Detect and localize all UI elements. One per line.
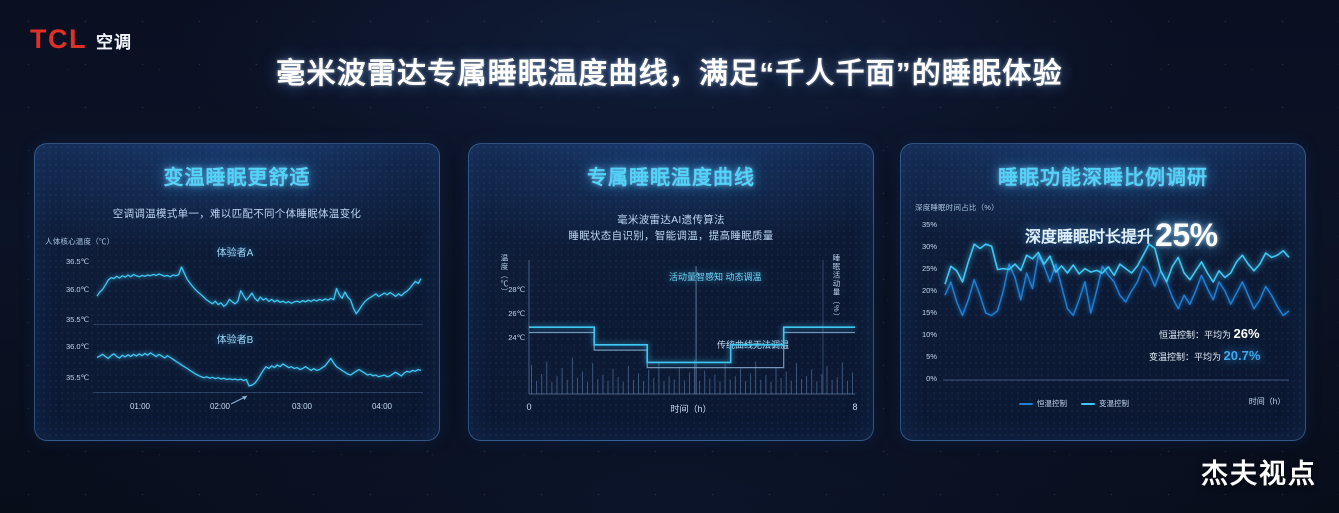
legend-swatch-constant [1019, 403, 1033, 405]
card3-stat-variable-value: 20.7% [1224, 348, 1261, 363]
card1-xtick-1: 02:00 [210, 402, 230, 411]
card2-subtitle-line-2: 睡眠状态自识别，智能调温，提高睡眠质量 [469, 228, 873, 244]
card3-chart: 深度睡眠时间占比（%） 35% 30% 25% 20% 15% 10% 5% 0… [901, 202, 1306, 441]
card1-subtitle: 空调调温模式单一，难以匹配不同个体睡眠体温变化 [35, 206, 439, 222]
card2-chart: 温度（℃） 睡眠活动量（%） 28℃ 26℃ 24℃ 活动量智感知 动态调温 传… [469, 244, 874, 436]
card1-xtick-3: 04:00 [372, 402, 392, 411]
card1-xtick-2: 03:00 [292, 402, 312, 411]
card2-subtitle: 毫米波雷达AI遗传算法 睡眠状态自识别，智能调温，提高睡眠质量 [469, 212, 873, 245]
card3-stat-constant-label: 恒温控制：平均为 [1159, 330, 1231, 340]
card2-subtitle-line-1: 毫米波雷达AI遗传算法 [469, 212, 873, 228]
brand-logo-tcl: TCL [30, 26, 87, 53]
card3-stat-variable-label: 变温控制：平均为 [1149, 352, 1221, 362]
card2-x-axis-label: 时间（h） [670, 402, 711, 415]
card3-legend: 恒温控制 变温控制 [1019, 398, 1129, 409]
card3-stat-variable: 变温控制：平均为 20.7% [1149, 348, 1260, 363]
card-deep-sleep-survey: 睡眠功能深睡比例调研 深度睡眠时间占比（%） 35% 30% 25% 20% 1… [900, 143, 1306, 441]
card2-xtick-1: 8 [852, 402, 857, 412]
legend-item-constant: 恒温控制 [1019, 398, 1067, 409]
card3-title: 睡眠功能深睡比例调研 [901, 161, 1305, 190]
card1-title: 变温睡眠更舒适 [35, 161, 439, 190]
brand-logo: TCL 空调 [30, 26, 132, 53]
card1-xtick-0: 01:00 [130, 402, 150, 411]
card-variable-temp-sleep: 变温睡眠更舒适 空调调温模式单一，难以匹配不同个体睡眠体温变化 人体核心温度（℃… [34, 143, 440, 441]
legend-label-constant: 恒温控制 [1037, 398, 1067, 409]
watermark: 杰夫视点 [1201, 452, 1317, 491]
card1-chart: 人体核心温度（℃） 36.5℃ 36.0℃ 35.5℃ 体验者A 36.0℃ 3… [35, 236, 440, 436]
legend-swatch-variable [1081, 403, 1095, 405]
card3-stat-constant-value: 26% [1234, 326, 1260, 341]
page-title: 毫米波雷达专属睡眠温度曲线，满足“千人千面”的睡眠体验 [0, 50, 1339, 92]
slide-canvas: TCL 空调 毫米波雷达专属睡眠温度曲线，满足“千人千面”的睡眠体验 变温睡眠更… [0, 0, 1339, 513]
card3-stat-constant: 恒温控制：平均为 26% [1159, 326, 1260, 341]
card2-title: 专属睡眠温度曲线 [469, 161, 873, 190]
card3-x-axis-label: 时间（h） [1249, 396, 1285, 407]
card-exclusive-sleep-curve: 专属睡眠温度曲线 毫米波雷达AI遗传算法 睡眠状态自识别，智能调温，提高睡眠质量… [468, 143, 874, 441]
legend-label-variable: 变温控制 [1099, 398, 1129, 409]
brand-logo-product: 空调 [96, 34, 132, 51]
legend-item-variable: 变温控制 [1081, 398, 1129, 409]
card2-xtick-0: 0 [526, 402, 531, 412]
